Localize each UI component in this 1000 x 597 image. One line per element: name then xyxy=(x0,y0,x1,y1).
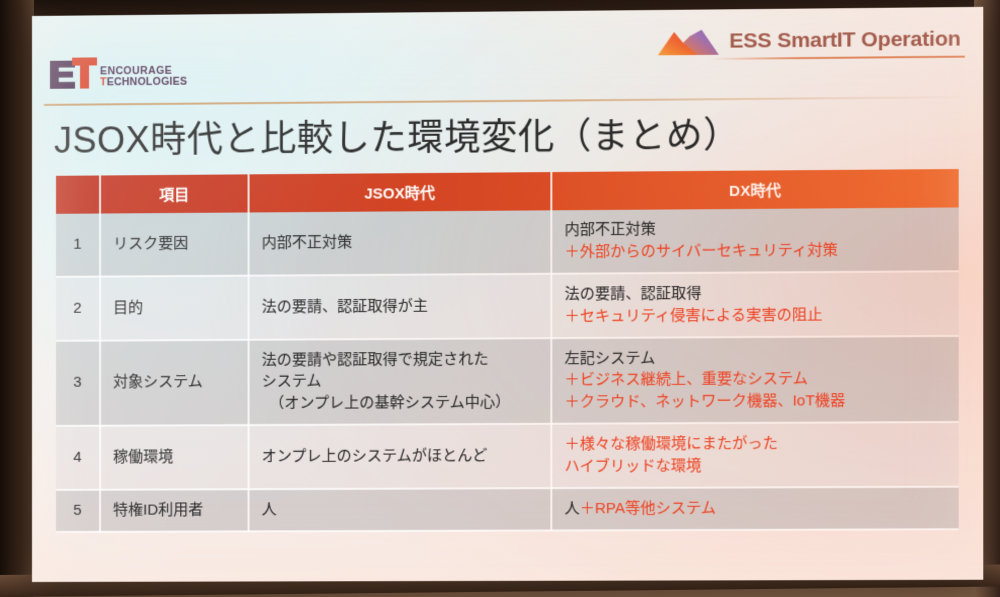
accent-text: ＋ビジネス継続上、重要なシステム xyxy=(565,371,809,389)
table-body: 1リスク要因内部不正対策内部不正対策＋外部からのサイバーセキュリティ対策2目的法… xyxy=(56,207,959,531)
cell-line: ＋外部からのサイバーセキュリティ対策 xyxy=(565,239,947,264)
cell-line: ＋クラウド、ネットワーク機器、IoT機器 xyxy=(565,390,947,414)
page-title: JSOX時代と比較した環境変化（まとめ） xyxy=(54,106,740,164)
row-item-label: 稼働環境 xyxy=(100,425,249,489)
table-row: 2目的法の要請、認証取得が主法の要請、認証取得＋セキュリティ侵害による実害の阻止 xyxy=(56,271,959,340)
wall-left-edge xyxy=(0,0,34,597)
ess-brand-text: ESS SmartIT Operation xyxy=(729,27,961,53)
presentation-slide: ENCOURAGE TECHNOLOGIES xyxy=(32,7,983,582)
cell-line: 左記システム xyxy=(565,346,947,370)
header-number xyxy=(56,175,100,213)
plain-text: 法の要請、認証取得 xyxy=(565,285,702,303)
accent-text: ＋様々な稼働環境にまたがった xyxy=(565,435,778,453)
plain-text: 内部不正対策 xyxy=(565,221,656,239)
cell-dx-era: 法の要請、認証取得＋セキュリティ侵害による実害の阻止 xyxy=(551,271,958,338)
plain-text: 左記システム xyxy=(565,349,656,367)
table-row: 1リスク要因内部不正対策内部不正対策＋外部からのサイバーセキュリティ対策 xyxy=(56,207,959,276)
cell-line: 内部不正対策 xyxy=(565,217,947,242)
cell-jsox-era: 人 xyxy=(249,488,552,531)
accent-text: ＋セキュリティ侵害による実害の阻止 xyxy=(565,306,823,325)
et-monogram-icon xyxy=(50,57,97,88)
accent-text: ハイブリッドな環境 xyxy=(565,458,702,476)
cell-jsox-era: 内部不正対策 xyxy=(249,210,552,275)
cell-line: ＋ビジネス継続上、重要なシステム xyxy=(565,368,947,392)
cell-line: ＋様々な稼働環境にまたがった xyxy=(565,432,947,456)
row-item-label: リスク要因 xyxy=(100,212,249,276)
cell-jsox-era: オンプレ上のシステムがほとんど xyxy=(249,424,552,489)
header-item: 項目 xyxy=(100,174,249,213)
cell-dx-era: ＋様々な稼働環境にまたがったハイブリッドな環境 xyxy=(551,422,958,488)
et-wordmark-highlight: T xyxy=(100,76,107,88)
row-number: 5 xyxy=(56,490,100,532)
table-header-row: 項目 JSOX時代 DX時代 xyxy=(56,169,959,214)
table-header: 項目 JSOX時代 DX時代 xyxy=(56,169,959,214)
slide-brand-row: ENCOURAGE TECHNOLOGIES xyxy=(32,7,983,102)
ess-smartit-operation-logo: ESS SmartIT Operation xyxy=(657,25,961,56)
cell-line: ＋セキュリティ侵害による実害の阻止 xyxy=(565,303,947,327)
et-wordmark-line2: TECHNOLOGIES xyxy=(100,76,187,87)
row-number: 1 xyxy=(56,214,100,277)
cell-line: 人＋RPA等他システム xyxy=(565,497,947,520)
cell-line: （オンプレ上の基幹システム中心） xyxy=(262,392,539,415)
mountain-icon xyxy=(657,28,720,57)
cell-jsox-era: 法の要請、認証取得が主 xyxy=(249,274,552,340)
cell-line: 内部不正対策 xyxy=(262,230,539,254)
table-row: 4稼働環境オンプレ上のシステムがほとんど＋様々な稼働環境にまたがったハイブリッド… xyxy=(56,422,959,490)
cell-dx-era: 左記システム＋ビジネス継続上、重要なシステム＋クラウド、ネットワーク機器、IoT… xyxy=(551,336,958,424)
cell-line: 法の要請、認証取得 xyxy=(565,281,947,305)
et-wordmark: ENCOURAGE TECHNOLOGIES xyxy=(100,66,187,89)
row-number: 4 xyxy=(56,426,100,490)
accent-text: ＋RPA等他システム xyxy=(580,500,716,518)
cell-line: オンプレ上のシステムがほとんど xyxy=(262,445,539,468)
row-item-label: 特権ID利用者 xyxy=(100,489,249,531)
accent-text: ＋クラウド、ネットワーク機器、IoT機器 xyxy=(565,392,846,410)
cell-line: 法の要請、認証取得が主 xyxy=(262,295,539,319)
brand-underline xyxy=(710,56,965,60)
letter-t-shape xyxy=(72,57,97,88)
header-dx-era: DX時代 xyxy=(551,169,958,210)
row-number: 3 xyxy=(56,340,100,426)
plain-text: 人 xyxy=(565,500,580,517)
table-row: 3対象システム法の要請や認証取得で規定されたシステム （オンプレ上の基幹システム… xyxy=(56,336,959,427)
cell-jsox-era: 法の要請や認証取得で規定されたシステム （オンプレ上の基幹システム中心） xyxy=(249,338,552,426)
cell-line: システム xyxy=(262,370,539,393)
cell-line: 人 xyxy=(262,498,539,521)
projection-screen: ENCOURAGE TECHNOLOGIES xyxy=(32,7,983,582)
cell-dx-era: 内部不正対策＋外部からのサイバーセキュリティ対策 xyxy=(551,207,958,273)
cell-line: 法の要請や認証取得で規定された xyxy=(262,348,539,371)
et-wordmark-rest: ECHNOLOGIES xyxy=(107,75,188,88)
title-divider xyxy=(44,96,971,106)
header-jsox-era: JSOX時代 xyxy=(249,172,552,212)
comparison-table: 項目 JSOX時代 DX時代 1リスク要因内部不正対策内部不正対策＋外部からのサ… xyxy=(56,169,959,533)
row-item-label: 対象システム xyxy=(100,339,249,426)
cell-line: ハイブリッドな環境 xyxy=(565,455,947,479)
row-item-label: 目的 xyxy=(100,275,249,340)
row-number: 2 xyxy=(56,276,100,340)
encourage-technologies-logo: ENCOURAGE TECHNOLOGIES xyxy=(50,57,187,89)
cell-dx-era: 人＋RPA等他システム xyxy=(551,487,958,531)
accent-text: ＋外部からのサイバーセキュリティ対策 xyxy=(565,242,838,261)
table-row: 5特権ID利用者人人＋RPA等他システム xyxy=(56,487,959,532)
